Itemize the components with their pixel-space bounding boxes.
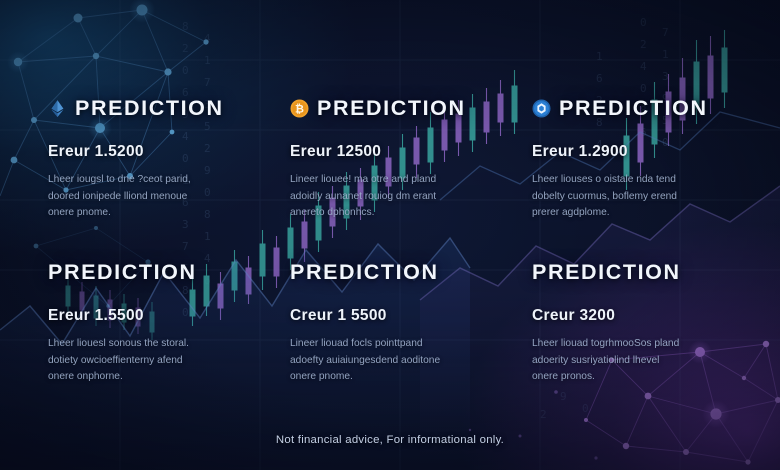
card-title: PREDICTION	[290, 260, 439, 285]
token-hex-icon	[532, 99, 551, 118]
card-price: Ereur 1.5200	[48, 143, 250, 161]
prediction-card[interactable]: PREDICTION Creur 3200 Lheer liouad togrh…	[518, 260, 746, 420]
card-description-line: doored ionipede lliond menoue	[48, 189, 218, 206]
card-price: Creur 1 5500	[290, 307, 492, 325]
card-description-line: prerer agdplome.	[532, 205, 702, 222]
card-description-line: Lheer liouad togrhmooSos pland	[532, 336, 702, 353]
card-header: PREDICTION	[48, 96, 250, 121]
card-description-line: adoidly aunanet rouiog dm erant	[290, 189, 460, 206]
card-description-line: adoerity susriyatiolind lhevel	[532, 353, 702, 370]
card-description-line: Lheer liouesl sonous the storal.	[48, 336, 218, 353]
card-header: PREDICTION	[48, 260, 250, 285]
card-description: Lineer liouad focls pointtpand adoefty a…	[290, 336, 460, 386]
card-description-line: anereto dphonhcs.	[290, 205, 460, 222]
card-price: Ereur 1.2900	[532, 143, 734, 161]
prediction-card[interactable]: PREDICTION Ereur 1.2900 Lheer liouses o …	[518, 96, 746, 256]
card-description-line: adoefty auiaiungesdend aoditone	[290, 353, 460, 370]
card-description-line: onere onphorne.	[48, 369, 218, 386]
card-price: Creur 3200	[532, 307, 734, 325]
ethereum-icon	[48, 99, 67, 118]
card-description: Lineer liouee! ma otre and pland adoidly…	[290, 172, 460, 222]
prediction-card[interactable]: PREDICTION Creur 1 5500 Lineer liouad fo…	[276, 260, 504, 420]
card-title: PREDICTION	[532, 260, 681, 285]
card-description-line: Lineer liouad focls pointtpand	[290, 336, 460, 353]
card-price: Ereur 12500	[290, 143, 492, 161]
prediction-card[interactable]: ₿ PREDICTION Ereur 12500 Lineer liouee! …	[276, 96, 504, 256]
card-title: PREDICTION	[75, 96, 224, 121]
prediction-card[interactable]: PREDICTION Ereur 1.5200 Lheer iougsl to …	[34, 96, 262, 256]
card-price: Ereur 1.5500	[48, 307, 250, 325]
card-description-line: Lheer iougsl to dne ?ceot parid,	[48, 172, 218, 189]
card-header: PREDICTION	[532, 260, 734, 285]
card-description: Lheer liouad togrhmooSos pland adoerity …	[532, 336, 702, 386]
card-title: PREDICTION	[317, 96, 466, 121]
prediction-card[interactable]: PREDICTION Ereur 1.5500 Lheer liouesl so…	[34, 260, 262, 420]
card-description-line: dotiety owcioeffienterny afend	[48, 353, 218, 370]
prediction-card-grid: PREDICTION Ereur 1.5200 Lheer iougsl to …	[0, 0, 780, 470]
svg-text:₿: ₿	[295, 103, 304, 116]
card-description-line: onere pronos.	[532, 369, 702, 386]
card-header: ₿ PREDICTION	[290, 96, 492, 121]
card-title: PREDICTION	[559, 96, 708, 121]
card-header: PREDICTION	[290, 260, 492, 285]
card-description-line: onere pnome.	[48, 205, 218, 222]
card-description: Lheer liouesl sonous the storal. dotiety…	[48, 336, 218, 386]
card-header: PREDICTION	[532, 96, 734, 121]
card-description: Lheer iougsl to dne ?ceot parid, doored …	[48, 172, 218, 222]
prediction-infographic: 820 694 016 376 80 417 352 908 146 024 0…	[0, 0, 780, 470]
card-description-line: Lheer liouses o oistale nda tend	[532, 172, 702, 189]
card-description-line: Lineer liouee! ma otre and pland	[290, 172, 460, 189]
card-description-line: onere pnome.	[290, 369, 460, 386]
card-description-line: dobelty cuormus, boflemy erend	[532, 189, 702, 206]
card-description: Lheer liouses o oistale nda tend dobelty…	[532, 172, 702, 222]
disclaimer-text: Not financial advice, For informational …	[0, 434, 780, 446]
card-title: PREDICTION	[48, 260, 197, 285]
bitcoin-icon: ₿	[290, 99, 309, 118]
